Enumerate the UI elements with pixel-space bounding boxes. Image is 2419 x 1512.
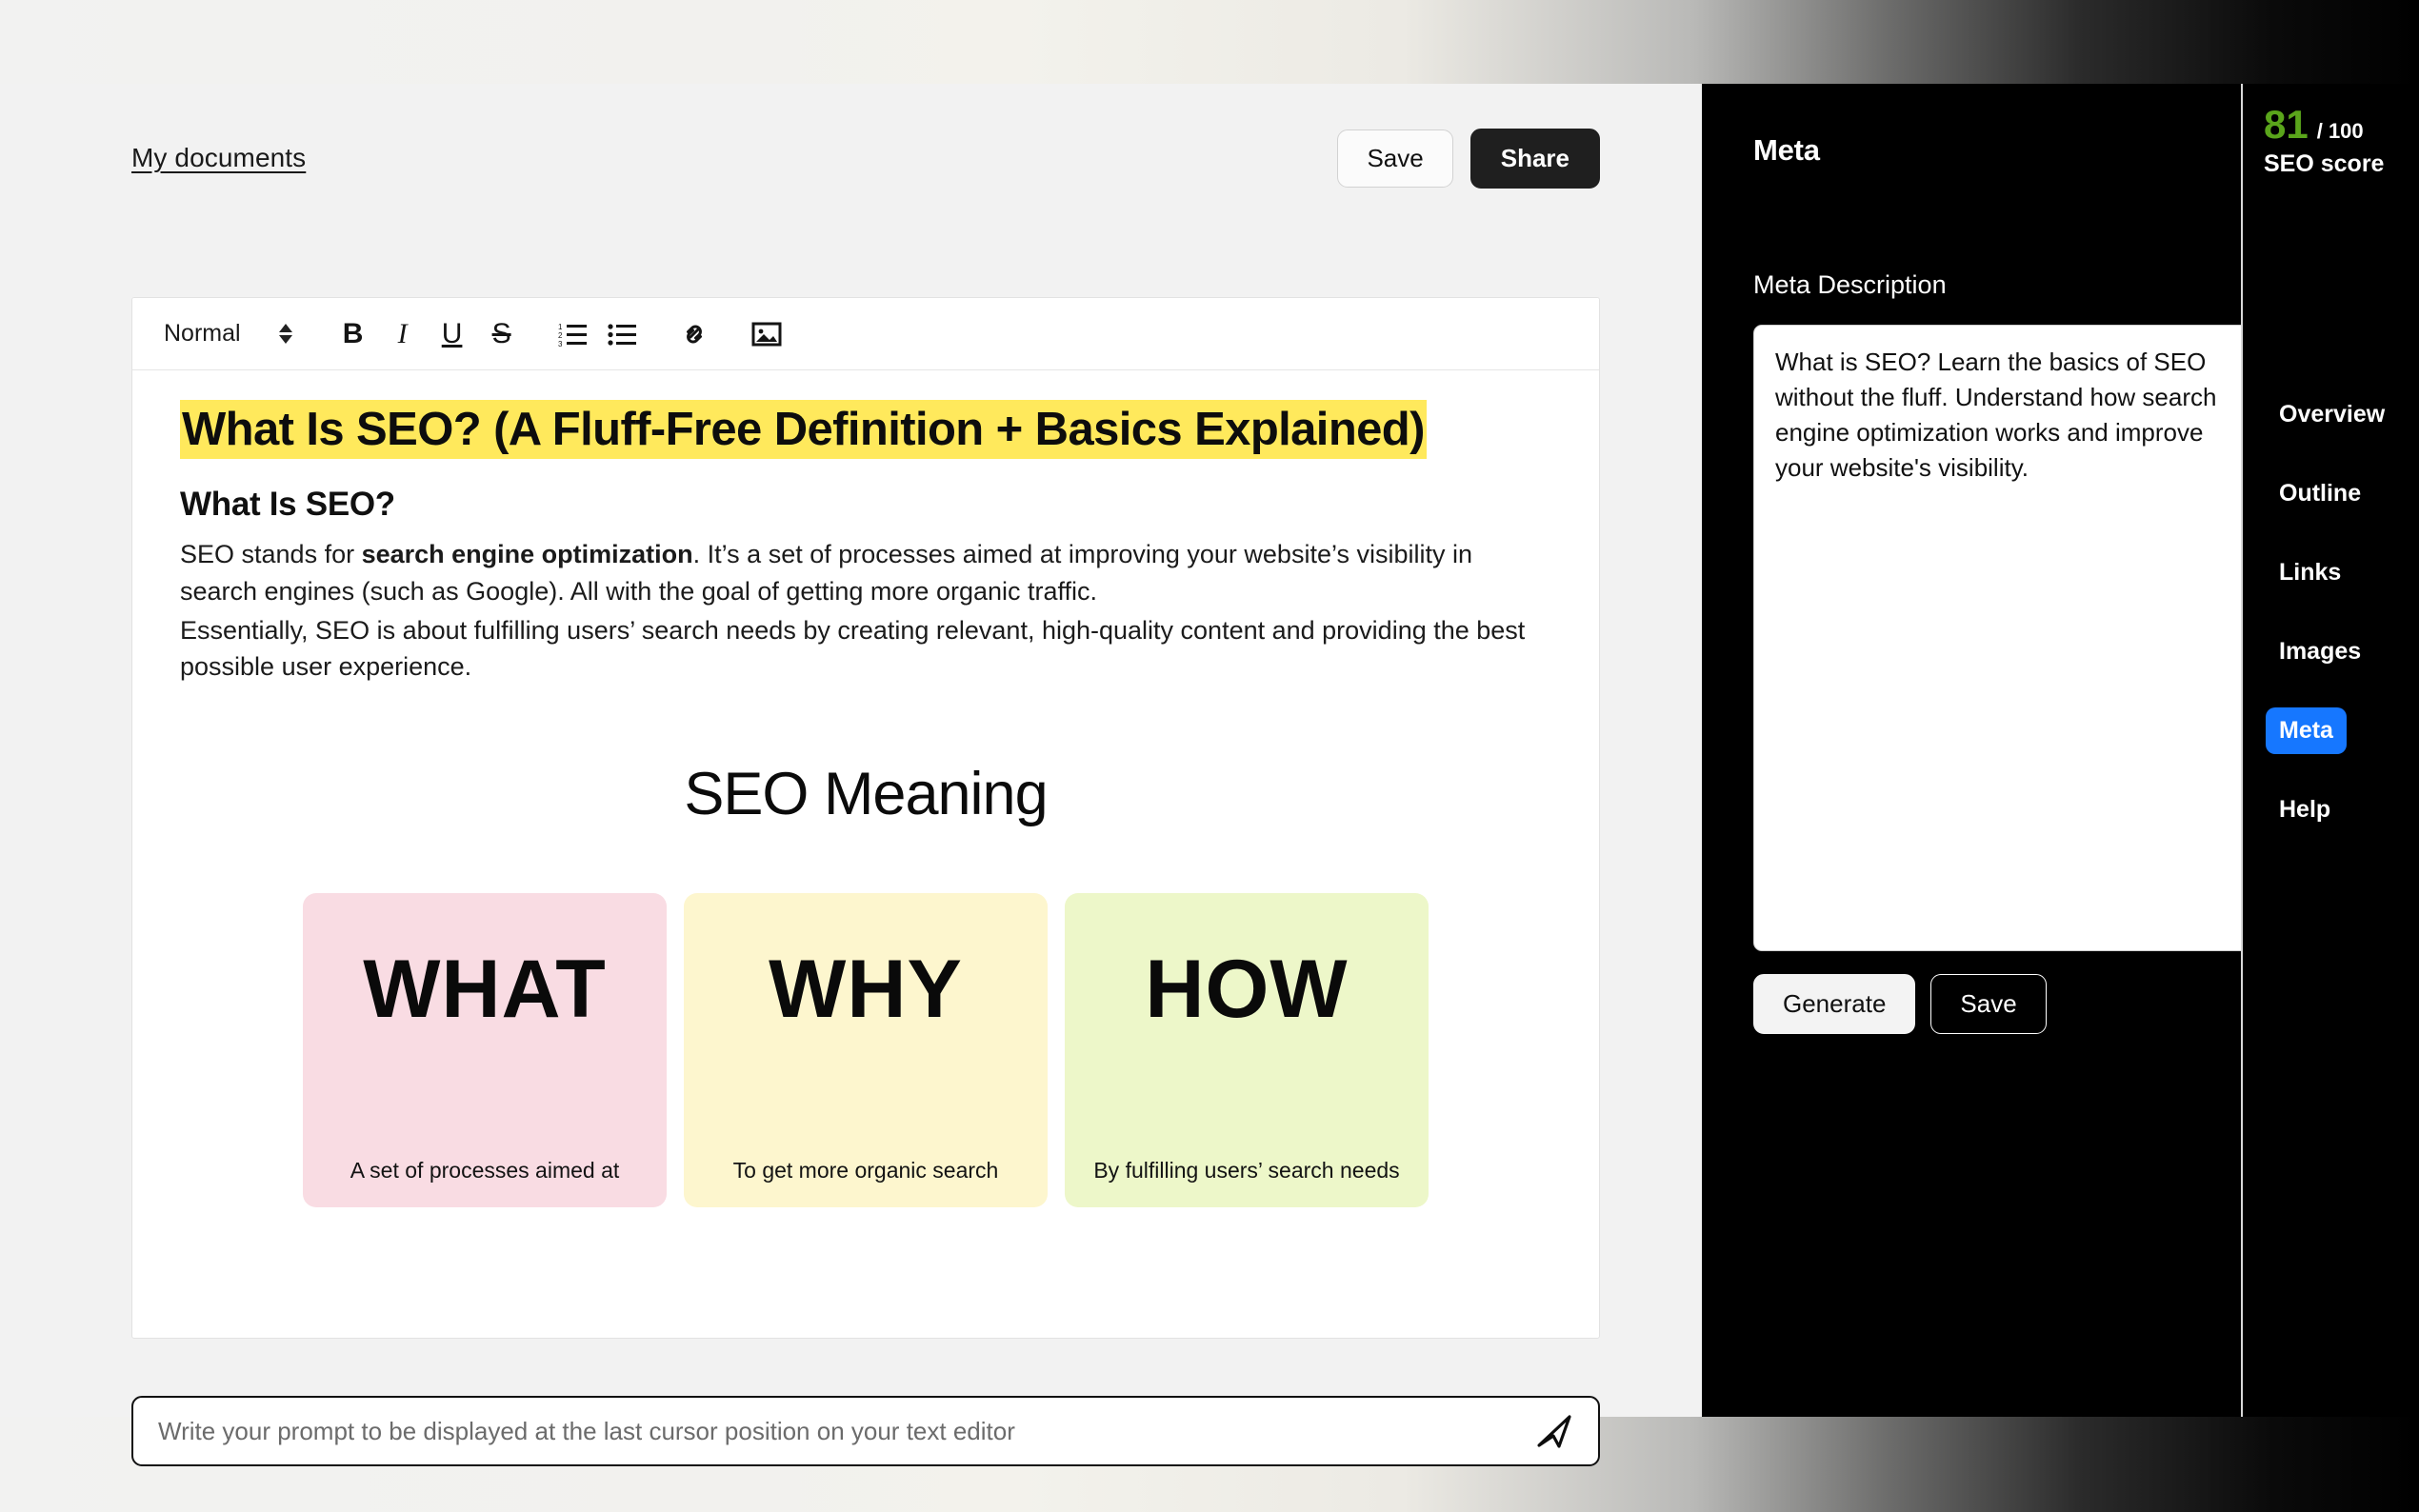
document-paragraph-2: Essentially, SEO is about fulfilling use… xyxy=(180,612,1551,686)
paragraph-1-lead: SEO stands for xyxy=(180,540,362,568)
meta-description-label: Meta Description xyxy=(1753,270,2189,300)
svg-text:3: 3 xyxy=(558,340,563,347)
document-heading-2: What Is SEO? xyxy=(180,486,1551,524)
nav-item-links[interactable]: Links xyxy=(2266,549,2354,596)
seo-score-value: 81 xyxy=(2264,105,2309,145)
meta-actions: Generate Save xyxy=(1753,974,2189,1034)
bullet-list-icon[interactable] xyxy=(597,309,647,359)
app-window: My documents Save Share Normal B I U S xyxy=(0,84,2419,1417)
infographic-card-why: WHY To get more organic search xyxy=(684,893,1048,1207)
editor-header: My documents Save Share xyxy=(131,122,1600,194)
infographic-card-what: WHAT A set of processes aimed at xyxy=(303,893,667,1207)
infographic-card-word: HOW xyxy=(1145,948,1348,1030)
seo-score-line: 81 / 100 xyxy=(2264,105,2419,145)
background-gradient-top xyxy=(0,0,2419,90)
document-heading-1-text: What Is SEO? (A Fluff-Free Definition + … xyxy=(180,400,1427,459)
breadcrumb-my-documents[interactable]: My documents xyxy=(131,143,306,173)
editor-card: Normal B I U S 1 2 3 xyxy=(131,297,1600,1339)
score-nav-panel: 81 / 100 SEO score Overview Outline Link… xyxy=(2241,84,2419,1417)
editor-toolbar: Normal B I U S 1 2 3 xyxy=(132,298,1599,370)
seo-score-max: / 100 xyxy=(2317,119,2364,144)
svg-text:2: 2 xyxy=(558,331,563,340)
generate-button[interactable]: Generate xyxy=(1753,974,1915,1034)
infographic-card-how: HOW By fulfilling users’ search needs xyxy=(1065,893,1429,1207)
underline-button[interactable]: U xyxy=(428,309,477,359)
prompt-bar[interactable] xyxy=(131,1396,1600,1466)
infographic-card-caption: By fulfilling users’ search needs xyxy=(1065,1157,1429,1184)
meta-panel-title: Meta xyxy=(1753,133,2189,168)
paragraph-style-label: Normal xyxy=(164,320,241,348)
italic-button[interactable]: I xyxy=(378,309,428,359)
score-nav-list: Overview Outline Links Images Meta Help xyxy=(2243,391,2419,833)
infographic-card-caption: A set of processes aimed at xyxy=(303,1157,667,1184)
meta-save-button[interactable]: Save xyxy=(1930,974,2046,1034)
chevron-updown-icon xyxy=(279,324,292,344)
share-button[interactable]: Share xyxy=(1470,129,1600,189)
document-body[interactable]: What Is SEO? (A Fluff-Free Definition + … xyxy=(132,370,1599,1338)
document-heading-1: What Is SEO? (A Fluff-Free Definition + … xyxy=(180,403,1551,457)
nav-item-outline[interactable]: Outline xyxy=(2266,470,2374,517)
image-icon[interactable] xyxy=(742,309,791,359)
nav-item-help[interactable]: Help xyxy=(2266,786,2344,833)
nav-item-overview[interactable]: Overview xyxy=(2266,391,2398,438)
seo-score-block: 81 / 100 SEO score xyxy=(2243,105,2419,178)
svg-text:1: 1 xyxy=(558,323,563,331)
seo-score-label: SEO score xyxy=(2264,150,2419,178)
infographic-image: SEO Meaning WHAT A set of processes aime… xyxy=(180,760,1551,1207)
header-actions: Save Share xyxy=(1337,129,1600,189)
infographic-title: SEO Meaning xyxy=(180,760,1551,828)
infographic-card-word: WHY xyxy=(769,948,963,1030)
send-icon[interactable] xyxy=(1535,1413,1573,1449)
save-button[interactable]: Save xyxy=(1337,129,1452,188)
editor-pane: My documents Save Share Normal B I U S xyxy=(0,84,1702,1417)
bold-button[interactable]: B xyxy=(329,309,378,359)
prompt-input[interactable] xyxy=(158,1417,1535,1446)
document-paragraph-1: SEO stands for search engine optimizatio… xyxy=(180,536,1551,609)
paragraph-style-select[interactable]: Normal xyxy=(164,320,292,348)
strikethrough-button[interactable]: S xyxy=(477,309,527,359)
infographic-card-word: WHAT xyxy=(363,948,607,1030)
link-icon[interactable] xyxy=(670,309,719,359)
meta-panel: Meta Meta Description Generate Save xyxy=(1702,84,2241,1417)
infographic-cards: WHAT A set of processes aimed at WHY To … xyxy=(180,893,1551,1207)
nav-item-images[interactable]: Images xyxy=(2266,628,2374,675)
paragraph-1-bold-term: search engine optimization xyxy=(362,540,693,568)
ordered-list-icon[interactable]: 1 2 3 xyxy=(548,309,597,359)
infographic-card-caption: To get more organic search xyxy=(684,1157,1048,1184)
meta-description-textarea[interactable] xyxy=(1753,325,2252,951)
nav-item-meta[interactable]: Meta xyxy=(2266,707,2347,754)
